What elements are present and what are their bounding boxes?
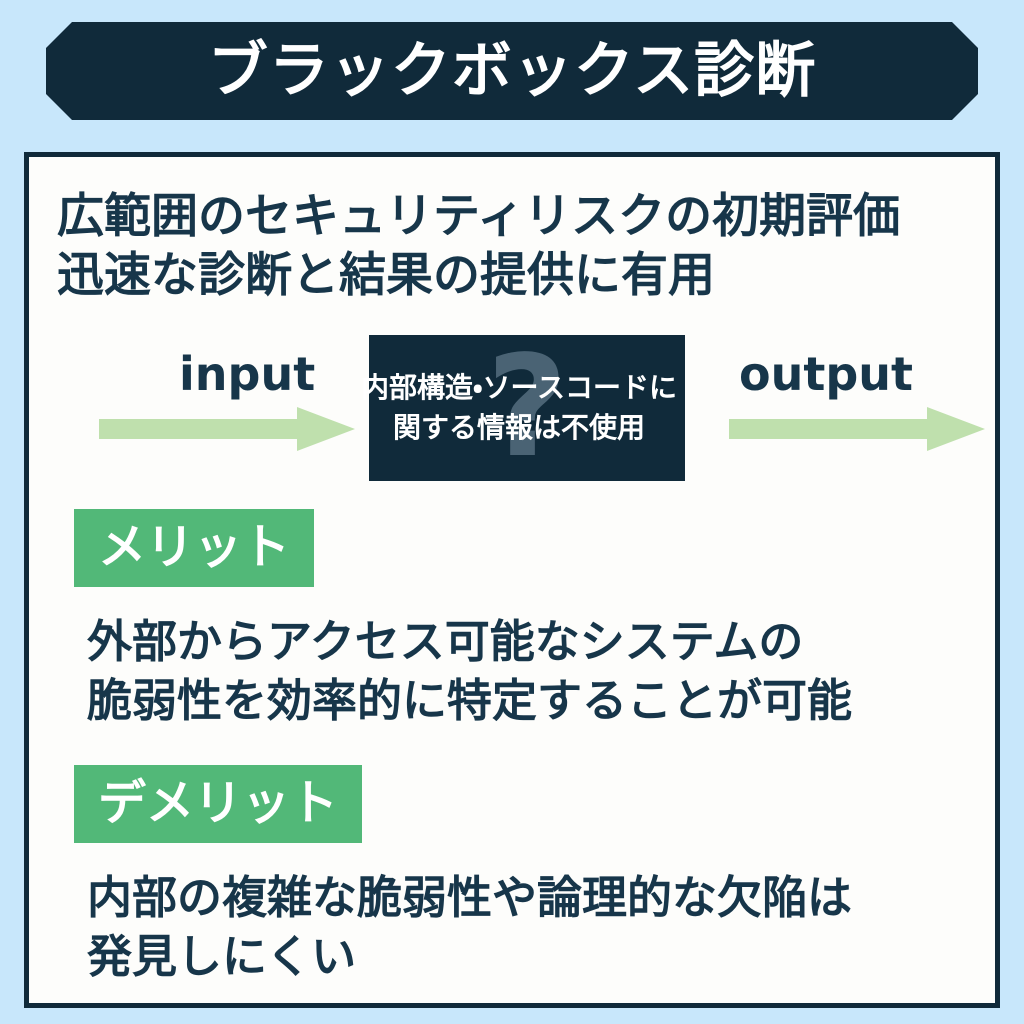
black-box-line-1: 内部構造・ソースコードに xyxy=(353,368,685,408)
lead-line-1: 広範囲のセキュリティリスクの初期評価 xyxy=(57,187,987,246)
demerit-body: 内部の複雑な脆弱性や論理的な欠陥は 発見しにくい xyxy=(87,869,852,986)
merit-line-2: 脆弱性を効率的に特定することが可能 xyxy=(87,672,852,731)
merit-badge: メリット xyxy=(74,509,314,587)
merit-line-1: 外部からアクセス可能なシステムの xyxy=(87,613,852,672)
lead-line-2: 迅速な診断と結果の提供に有用 xyxy=(57,246,987,305)
input-arrow-icon xyxy=(99,407,355,451)
title-banner: ブラックボックス診断 xyxy=(46,22,978,120)
demerit-badge: デメリット xyxy=(74,765,362,843)
black-box-line-2: 関する情報は不使用 xyxy=(353,408,685,448)
content-card: 広範囲のセキュリティリスクの初期評価 迅速な診断と結果の提供に有用 input … xyxy=(24,152,1000,1008)
page-title: ブラックボックス診断 xyxy=(208,41,816,101)
demerit-line-1: 内部の複雑な脆弱性や論理的な欠陥は xyxy=(87,869,852,928)
flow-diagram: input ? 内部構造・ソースコードに 関する情報は不使用 output xyxy=(29,325,995,503)
infographic-page: ブラックボックス診断 広範囲のセキュリティリスクの初期評価 迅速な診断と結果の提… xyxy=(0,0,1024,1024)
output-arrow-icon xyxy=(729,407,985,451)
black-box: ? 内部構造・ソースコードに 関する情報は不使用 xyxy=(369,335,685,481)
merit-body: 外部からアクセス可能なシステムの 脆弱性を効率的に特定することが可能 xyxy=(87,613,852,730)
lead-paragraph: 広範囲のセキュリティリスクの初期評価 迅速な診断と結果の提供に有用 xyxy=(57,187,987,305)
demerit-line-2: 発見しにくい xyxy=(87,928,852,987)
output-label: output xyxy=(739,351,913,397)
input-label: input xyxy=(179,351,315,397)
black-box-text: 内部構造・ソースコードに 関する情報は不使用 xyxy=(353,368,685,448)
